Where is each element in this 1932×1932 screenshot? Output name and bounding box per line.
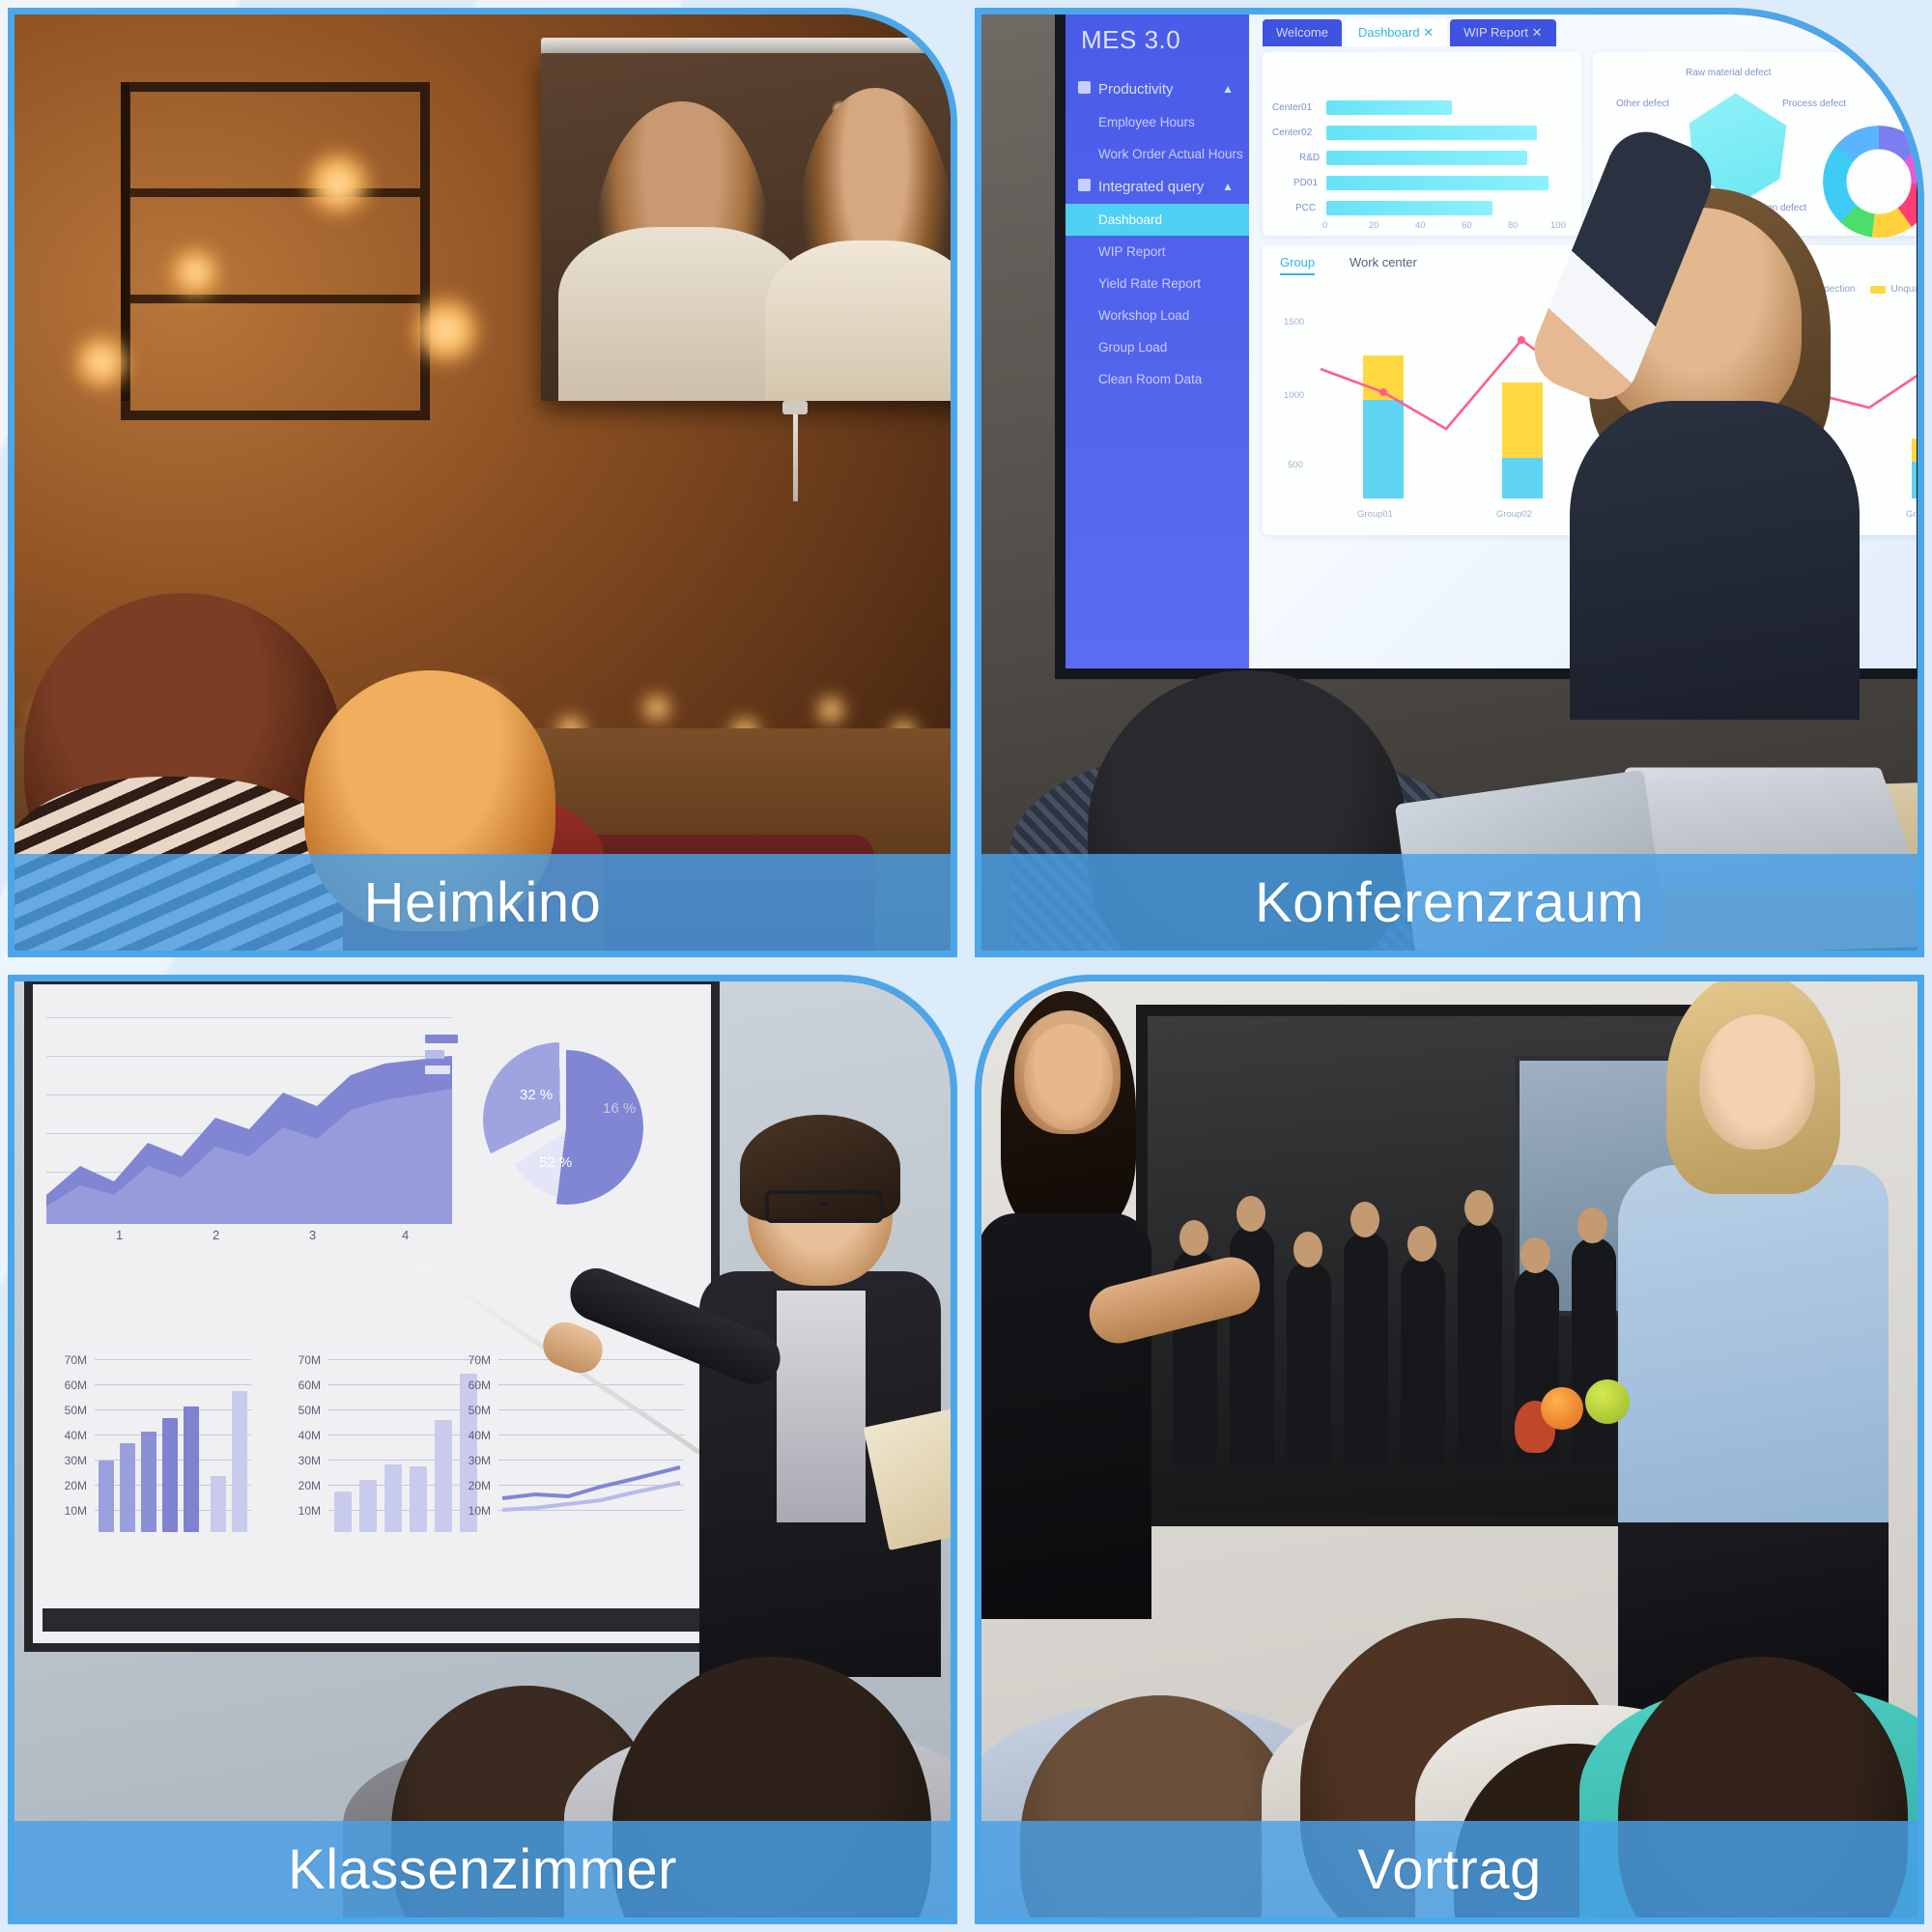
y-tick: 50M [288,1404,321,1417]
panel-classroom[interactable]: 1 2 3 4 32 % 16 % 52 % [8,975,957,1924]
caption-label: Konferenzraum [1255,870,1644,935]
mini-chart-bars-2: 70M 60M 50M 40M 30M 20M 10M [292,1353,485,1532]
close-icon[interactable]: ✕ [1423,25,1434,40]
hbar-category-label: PCC [1295,203,1316,213]
lamp-glow [169,246,221,298]
radar-axis-label: Raw material defect [1686,68,1771,78]
sidebar-group-label: Integrated query [1098,179,1204,195]
mini-chart-lines: 70M 60M 50M 40M 30M 20M 10M [462,1353,684,1532]
teacher [709,1126,931,1667]
y-tick: 40M [458,1429,491,1442]
caption-label: Vortrag [1357,1837,1542,1902]
y-tick: 70M [288,1353,321,1367]
area-chart: 1 2 3 4 [46,1013,452,1245]
y-tick: 60M [54,1378,87,1392]
pie-label-32: 32 % [520,1087,553,1103]
caption-bar-home-cinema: Heimkino [14,854,951,951]
y-tick: 70M [458,1353,491,1367]
y-tick: 50M [458,1404,491,1417]
sidebar-item-dashboard[interactable]: Dashboard [1065,204,1249,236]
sidebar-item-wip-report[interactable]: WIP Report [1065,236,1249,268]
teacher-glasses [765,1190,883,1223]
photo-classroom: 1 2 3 4 32 % 16 % 52 % [14,981,951,1918]
tab-wip-report[interactable]: WIP Report ✕ [1450,19,1555,46]
x-tick: 2 [213,1228,219,1242]
hbar-category-label: PD01 [1293,178,1318,188]
sidebar-group-integrated-query[interactable]: Integrated query ▲ [1065,170,1249,204]
lamp-glow [411,295,482,366]
x-tick: 60 [1462,220,1472,231]
y-tick: 20M [54,1479,87,1492]
presenter-blouse [1618,1165,1889,1580]
blocks-icon [1078,179,1091,191]
photo-lecture [981,981,1918,1918]
x-tick: 80 [1508,220,1519,231]
y-tick: 20M [458,1479,491,1492]
sidebar-item-clean-room-data[interactable]: Clean Room Data [1065,363,1249,395]
lamp-glow [72,333,130,391]
sidebar-group-productivity[interactable]: Productivity ▲ [1065,72,1249,106]
y-tick: 40M [288,1429,321,1442]
sidebar-group-label: Productivity [1098,81,1174,98]
mini-chart-bars-1: 70M 60M 50M 40M 30M 20M 10M [58,1353,251,1532]
y-tick: 10M [288,1504,321,1518]
radar-axis-label: Process defect [1782,99,1846,109]
photo-conference-room: MES 3.0 Productivity ▲ Employee Hours Wo… [981,14,1918,951]
photo-home-cinema [14,14,951,951]
screen-pull-handle [782,401,808,414]
y-tick: 10M [54,1504,87,1518]
app-title: MES 3.0 [1065,21,1249,72]
x-tick: Group02 [1496,509,1532,520]
sidebar-item-yield-rate-report[interactable]: Yield Rate Report [1065,268,1249,299]
hbar-category-label: Center02 [1272,128,1312,138]
screen-pull-cord [793,414,798,501]
use-case-grid: Heimkino MES 3.0 Productivity ▲ [0,0,1932,1932]
shelf-unit [121,82,430,420]
x-tick: 40 [1415,220,1426,231]
area-chart-legend [425,1035,458,1081]
grid-icon [1078,81,1091,94]
y-tick: 60M [288,1378,321,1392]
dashboard-sidebar: MES 3.0 Productivity ▲ Employee Hours Wo… [1065,14,1249,668]
projected-movie-frame [541,53,951,401]
y-tick: 10M [458,1504,491,1518]
movie-character-woman-shirt [765,241,951,401]
y-tick: 40M [54,1429,87,1442]
presenter-body [1570,401,1860,720]
sidebar-item-employee-hours[interactable]: Employee Hours [1065,106,1249,138]
x-tick: 1 [116,1228,123,1242]
caption-label: Klassenzimmer [288,1837,677,1902]
speaker-top [981,1213,1151,1619]
tab-welcome[interactable]: Welcome [1263,19,1342,46]
caption-bar-lecture: Vortrag [981,1821,1918,1918]
speaker-face [1024,1024,1113,1130]
tab-label: Dashboard [1358,25,1420,40]
y-tick: 30M [288,1454,321,1467]
hbar [1326,201,1492,215]
lamp-glow [304,150,372,217]
hbar [1326,126,1537,140]
projection-screen [541,53,951,401]
sidebar-item-work-order-actual-hours[interactable]: Work Order Actual Hours [1065,138,1249,170]
caption-bar-classroom: Klassenzimmer [14,1821,951,1918]
y-tick: 30M [54,1454,87,1467]
tab-label: WIP Report [1463,25,1528,40]
y-tick: 60M [458,1378,491,1392]
area-series [46,1050,452,1224]
caption-bar-conference-room: Konferenzraum [981,854,1918,951]
chevron-up-icon: ▲ [1222,82,1234,96]
hbar-category-label: R&D [1299,153,1320,163]
donut-chart: Total 14 [1879,89,1918,201]
panel-lecture[interactable]: Vortrag [975,975,1924,1924]
y-tick: 20M [288,1479,321,1492]
hbar [1326,176,1548,190]
hbar [1326,151,1527,165]
radar-axis-label: Other defect [1616,99,1669,109]
pie-chart: 32 % 16 % 52 % [489,1040,653,1205]
presenter-face [1699,1014,1815,1150]
tab-dashboard[interactable]: Dashboard ✕ [1345,19,1447,46]
sidebar-item-workshop-load[interactable]: Workshop Load [1065,299,1249,331]
x-tick: 20 [1369,220,1379,231]
hbar-category-label: Center01 [1272,102,1312,113]
y-tick: 30M [458,1454,491,1467]
x-tick: 0 [1322,220,1327,231]
caption-label: Heimkino [364,870,602,935]
panel-conference-room[interactable]: MES 3.0 Productivity ▲ Employee Hours Wo… [975,8,1924,957]
y-tick: 70M [54,1353,87,1367]
chevron-up-icon: ▲ [1222,180,1234,193]
teacher-shirt [777,1291,866,1522]
panel-home-cinema[interactable]: Heimkino [8,8,957,957]
donut-center: Total 14 [1879,89,1918,201]
screen-bottom-rail [43,1608,720,1632]
close-icon[interactable]: ✕ [1532,25,1543,40]
pie-label-16: 16 % [603,1100,636,1117]
fruit-props [1541,1378,1666,1445]
x-tick: Group05 [1906,509,1918,520]
pie-slice-52 [489,1050,643,1205]
dashboard-tab-strip: Welcome Dashboard ✕ WIP Report ✕ [1263,19,1556,46]
x-tick: 3 [309,1228,316,1242]
x-tick: 100 [1550,220,1566,231]
pie-label-52: 52 % [539,1154,572,1171]
sidebar-item-group-load[interactable]: Group Load [1065,331,1249,363]
x-tick: Group01 [1357,509,1393,520]
y-tick: 50M [54,1404,87,1417]
x-tick: 4 [402,1228,409,1242]
hbar [1326,100,1452,115]
card-horizontal-bar-chart: Center01 Center02 R&D PD01 PCC 0 [1263,52,1581,236]
